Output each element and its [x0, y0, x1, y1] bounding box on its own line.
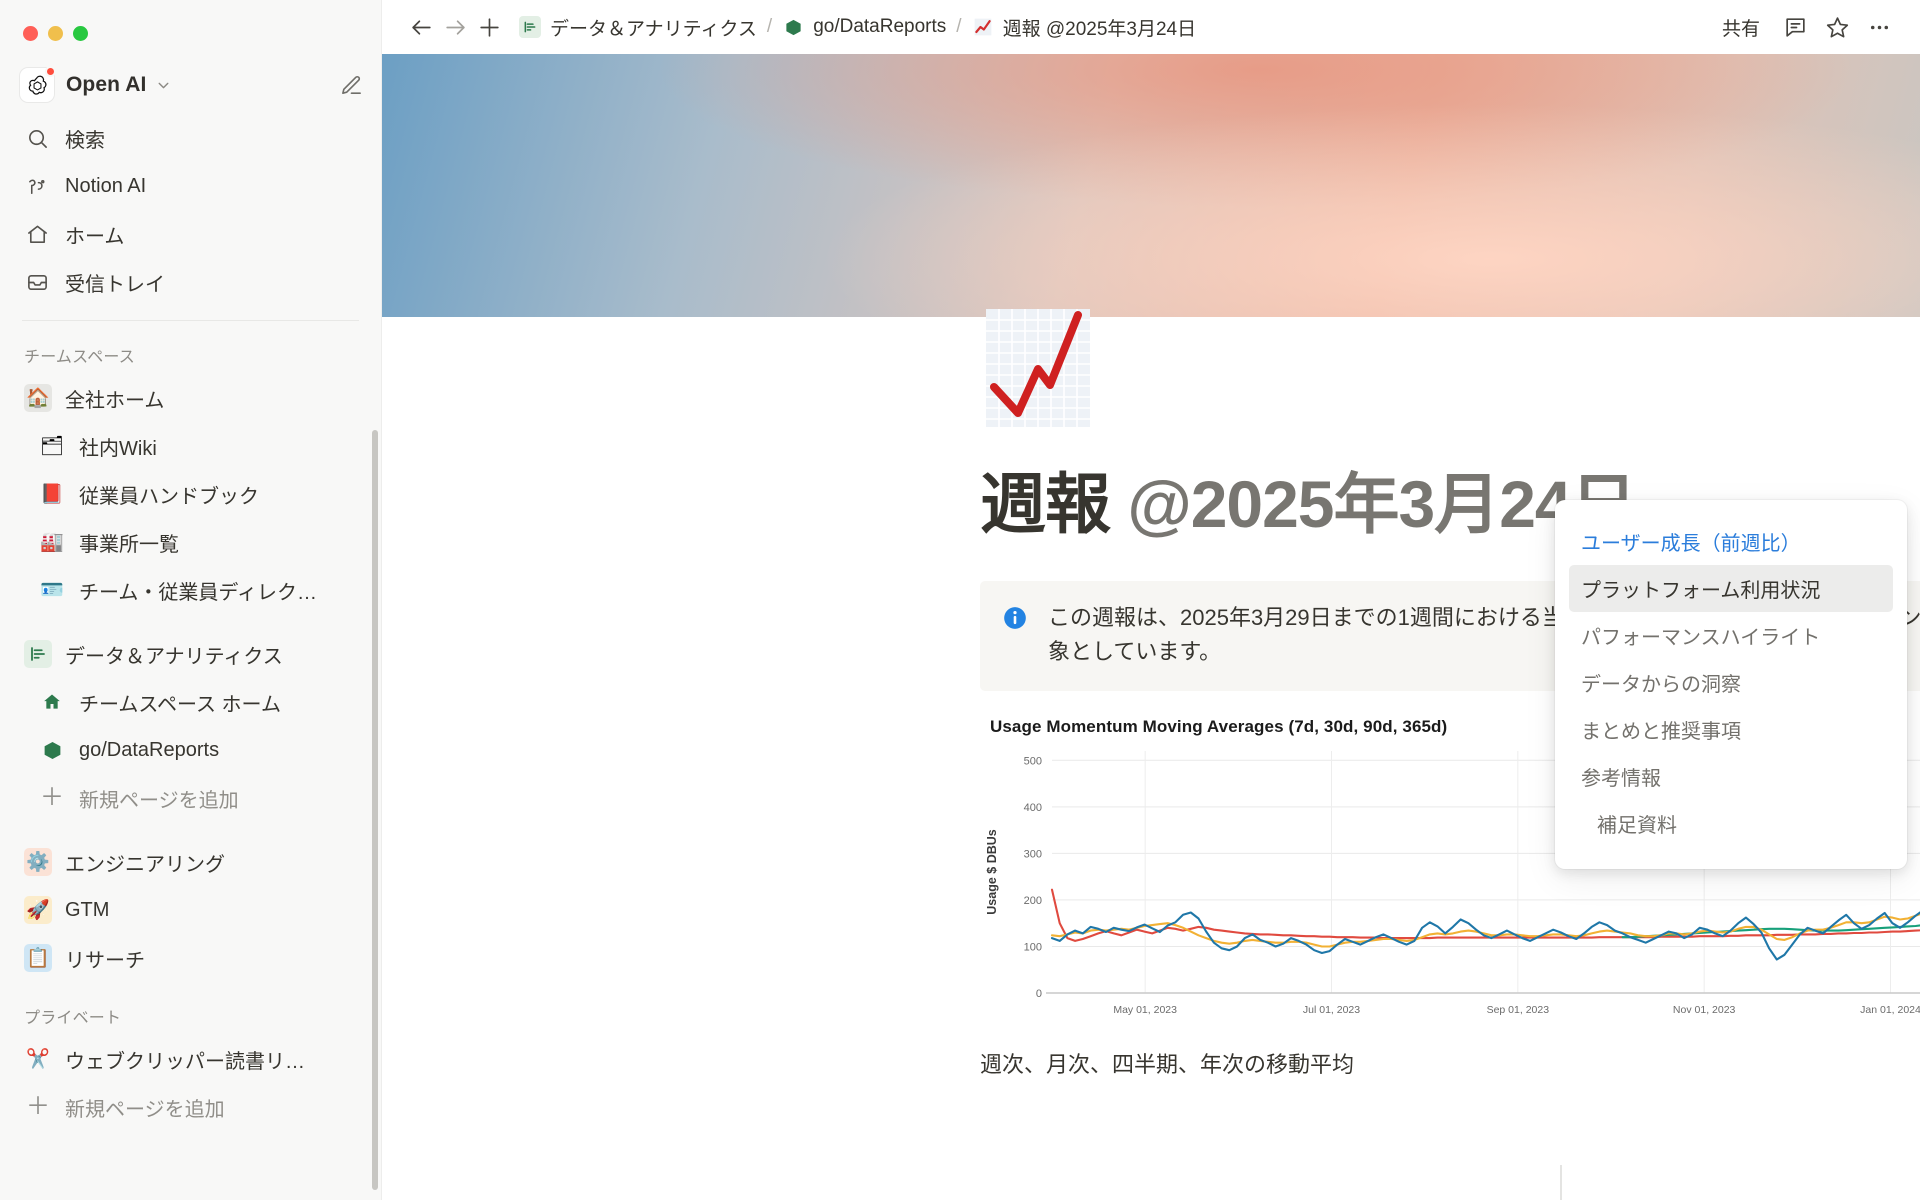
tree-item-label: チーム・従業員ディレク…	[79, 576, 317, 605]
comment-icon[interactable]	[1778, 10, 1812, 44]
workspace-icon-wrap	[20, 68, 54, 102]
sidebar: Open AI 検索 Notion AI	[0, 0, 382, 1200]
breadcrumb-label: go/DataReports	[813, 16, 946, 38]
sidebar-item-label: 受信トレイ	[65, 268, 165, 297]
tree-item-label: 事業所一覧	[79, 528, 179, 557]
toc-item-platform-usage[interactable]: プラットフォーム利用状況	[1569, 565, 1893, 612]
svg-text:300: 300	[1024, 849, 1042, 861]
notion-ai-icon	[24, 173, 51, 200]
sidebar-item-research[interactable]: 📋 リサーチ	[14, 934, 367, 982]
close-window-button[interactable]	[23, 26, 38, 41]
chart-increasing-emoji-icon	[972, 16, 994, 38]
sidebar-item-internal-wiki[interactable]: 🗂 社内Wiki	[14, 422, 367, 470]
toc-item-appendix[interactable]: 補足資料	[1569, 800, 1893, 847]
chart-caption: 週次、月次、四半期、年次の移動平均	[980, 1047, 1920, 1079]
bar-chart-emoji-icon	[519, 16, 541, 38]
share-button[interactable]: 共有	[1712, 8, 1770, 47]
toc-item-summary-recommendations[interactable]: まとめと推奨事項	[1569, 706, 1893, 753]
sidebar-item-web-clipper-reading-list[interactable]: ✂️ ウェブクリッパー読書リ…	[14, 1035, 367, 1083]
tree-item-label: 社内Wiki	[79, 432, 157, 461]
tree-item-label: エンジニアリング	[65, 848, 225, 877]
tree-item-label: 新規ページを追加	[79, 784, 239, 813]
page-cover-image[interactable]	[382, 54, 1920, 317]
back-button[interactable]	[404, 10, 438, 44]
closed-book-emoji-icon: 📕	[38, 480, 66, 508]
sidebar-item-label: 検索	[65, 124, 105, 153]
tree-item-label: データ＆アナリティクス	[65, 640, 283, 669]
svg-text:200: 200	[1024, 895, 1042, 907]
svg-text:Nov 01, 2023: Nov 01, 2023	[1673, 1004, 1736, 1016]
sidebar-item-label: ホーム	[65, 220, 124, 249]
sidebar-item-gtm[interactable]: 🚀 GTM	[14, 886, 367, 934]
sidebar-item-employee-handbook[interactable]: 📕 従業員ハンドブック	[14, 470, 367, 518]
svg-text:Jul 01, 2023: Jul 01, 2023	[1303, 1004, 1360, 1016]
search-icon	[24, 125, 51, 152]
svg-text:May 01, 2023: May 01, 2023	[1113, 1004, 1177, 1016]
toc-item-user-growth[interactable]: ユーザー成長（前週比）	[1569, 518, 1893, 565]
tree-item-label: GTM	[65, 899, 109, 922]
teamspace-tree: 🏠 全社ホーム 🗂 社内Wiki 📕 従業員ハンドブック 🏭 事業所一覧 🪪 チ…	[0, 374, 381, 982]
sidebar-item-notion-ai[interactable]: Notion AI	[14, 162, 367, 210]
tree-item-label: go/DataReports	[79, 739, 219, 762]
sidebar-item-home[interactable]: ホーム	[14, 210, 367, 258]
sidebar-scrollbar[interactable]	[372, 430, 378, 1190]
sidebar-add-page-private[interactable]: ＋ 新規ページを追加	[14, 1083, 367, 1131]
tree-item-label: ウェブクリッパー読書リ…	[65, 1045, 305, 1074]
id-card-emoji-icon: 🪪	[38, 576, 66, 604]
sidebar-item-data-analytics[interactable]: データ＆アナリティクス	[14, 630, 367, 678]
tree-item-label: 従業員ハンドブック	[79, 480, 259, 509]
workspace-name: Open AI	[66, 73, 146, 97]
breadcrumb: データ＆アナリティクス / go/DataReports / 週報 @2025年…	[512, 10, 1203, 45]
factory-emoji-icon: 🏭	[38, 528, 66, 556]
sidebar-item-search[interactable]: 検索	[14, 114, 367, 162]
sidebar-item-label: Notion AI	[65, 175, 146, 198]
tree-item-label: リサーチ	[65, 944, 145, 973]
maximize-window-button[interactable]	[73, 26, 88, 41]
home-icon	[24, 221, 51, 248]
private-tree: ✂️ ウェブクリッパー読書リ… ＋ 新規ページを追加	[0, 1035, 381, 1131]
new-tab-plus-button[interactable]	[472, 10, 506, 44]
clipboard-emoji-icon: 📋	[24, 944, 52, 972]
sidebar-item-teamspace-home[interactable]: チームスペース ホーム	[14, 678, 367, 726]
page-title-main: 週報	[980, 467, 1110, 541]
bar-chart-emoji-icon	[24, 640, 52, 668]
breadcrumb-item-go-datareports[interactable]: go/DataReports	[775, 12, 953, 42]
breadcrumb-separator: /	[764, 16, 775, 38]
rocket-emoji-icon: 🚀	[24, 896, 52, 924]
house-emoji-icon: 🏠	[24, 384, 52, 412]
breadcrumb-separator: /	[953, 16, 964, 38]
scissors-emoji-icon: ✂️	[24, 1045, 52, 1073]
table-of-contents-popup: ユーザー成長（前週比） プラットフォーム利用状況 パフォーマンスハイライト デー…	[1555, 500, 1907, 869]
sidebar-item-office-list[interactable]: 🏭 事業所一覧	[14, 518, 367, 566]
svg-text:500: 500	[1024, 756, 1042, 768]
toc-item-references[interactable]: 参考情報	[1569, 753, 1893, 800]
chevron-down-icon[interactable]	[155, 77, 172, 94]
org-chart-emoji-icon: 🗂	[38, 432, 66, 460]
tree-item-label: チームスペース ホーム	[79, 688, 281, 717]
svg-text:Sep 01, 2023: Sep 01, 2023	[1487, 1004, 1550, 1016]
window-traffic-lights	[0, 0, 381, 48]
sidebar-item-company-home[interactable]: 🏠 全社ホーム	[14, 374, 367, 422]
page-bottom-divider	[1560, 1165, 1562, 1200]
inbox-icon	[24, 269, 51, 296]
breadcrumb-item-current-page[interactable]: 週報 @2025年3月24日	[965, 10, 1204, 45]
notion-app-window: Open AI 検索 Notion AI	[0, 0, 1920, 1200]
toc-item-data-insights[interactable]: データからの洞察	[1569, 659, 1893, 706]
green-hexagon-emoji-icon	[782, 16, 804, 38]
plus-icon: ＋	[24, 1095, 52, 1119]
private-section-header: プライベート	[0, 982, 381, 1035]
sidebar-add-page-data[interactable]: ＋ 新規ページを追加	[14, 774, 367, 822]
sidebar-item-inbox[interactable]: 受信トレイ	[14, 258, 367, 306]
gears-emoji-icon: ⚙️	[24, 848, 52, 876]
sidebar-primary-nav: 検索 Notion AI ホーム 受信トレイ	[0, 108, 381, 306]
svg-text:400: 400	[1024, 802, 1042, 814]
page-icon-chart-increasing-emoji[interactable]	[986, 309, 1090, 427]
svg-text:0: 0	[1036, 988, 1042, 1000]
svg-text:Jan 01, 2024: Jan 01, 2024	[1860, 1004, 1920, 1016]
sidebar-item-engineering[interactable]: ⚙️ エンジニアリング	[14, 838, 367, 886]
new-page-compose-icon[interactable]	[340, 74, 363, 97]
top-bar-actions: 共有	[1712, 8, 1896, 47]
star-icon[interactable]	[1820, 10, 1854, 44]
breadcrumb-label: データ＆アナリティクス	[550, 14, 757, 41]
tree-item-label: 新規ページを追加	[65, 1093, 225, 1122]
sidebar-item-go-datareports[interactable]: go/DataReports	[14, 726, 367, 774]
minimize-window-button[interactable]	[48, 26, 63, 41]
toc-item-performance-highlights[interactable]: パフォーマンスハイライト	[1569, 612, 1893, 659]
breadcrumb-label: 週報 @2025年3月24日	[1003, 14, 1197, 41]
teamspace-section-header: チームスペース	[0, 321, 381, 374]
forward-button[interactable]	[438, 10, 472, 44]
house-emoji-icon	[38, 688, 66, 716]
info-icon	[1002, 605, 1028, 636]
breadcrumb-item-data-analytics[interactable]: データ＆アナリティクス	[512, 10, 764, 45]
workspace-switcher[interactable]: Open AI	[0, 62, 381, 108]
chart-increasing-icon	[986, 309, 1090, 427]
plus-icon: ＋	[38, 786, 66, 810]
ellipsis-icon[interactable]	[1862, 10, 1896, 44]
sidebar-item-team-directory[interactable]: 🪪 チーム・従業員ディレク…	[14, 566, 367, 614]
tree-item-label: 全社ホーム	[65, 384, 164, 413]
svg-text:100: 100	[1024, 942, 1042, 954]
svg-text:Usage $ DBUs: Usage $ DBUs	[985, 830, 999, 915]
top-bar: データ＆アナリティクス / go/DataReports / 週報 @2025年…	[382, 0, 1920, 54]
main-area: データ＆アナリティクス / go/DataReports / 週報 @2025年…	[382, 0, 1920, 1200]
green-hexagon-emoji-icon	[38, 736, 66, 764]
workspace-notification-badge	[45, 66, 56, 77]
